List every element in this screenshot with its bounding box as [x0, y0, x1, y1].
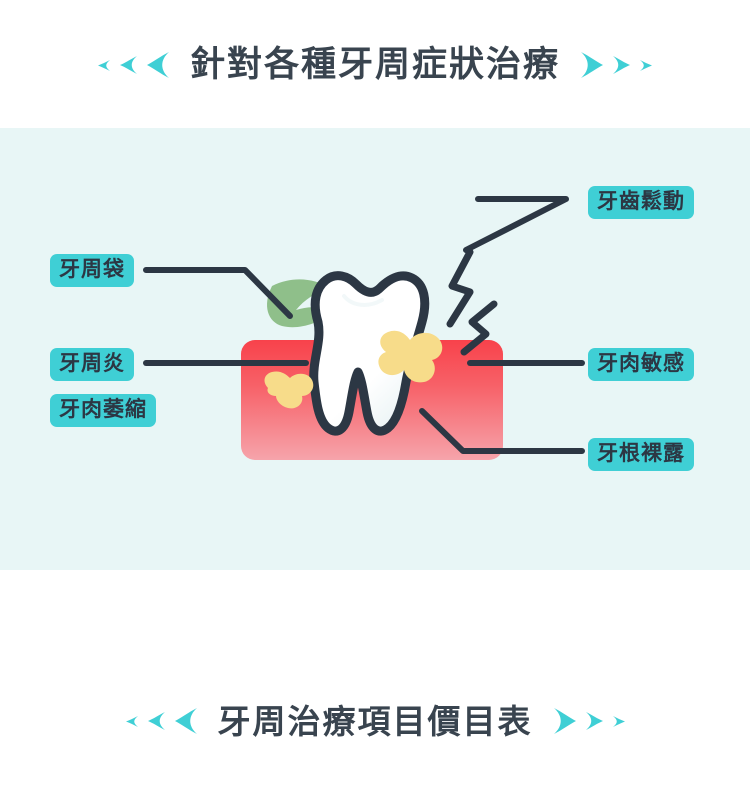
footer-title: 牙周治療項目價目表 [218, 705, 533, 738]
label-tooth-mobility[interactable]: 牙齒鬆動 [588, 186, 694, 219]
page-title: 針對各種牙周症狀治療 [190, 48, 560, 83]
triangles-left-icon [125, 706, 200, 736]
triangles-right-icon [578, 50, 653, 80]
label-perio-pocket[interactable]: 牙周袋 [50, 254, 134, 287]
label-gum-sensitive[interactable]: 牙肉敏感 [588, 348, 694, 381]
label-periodontitis[interactable]: 牙周炎 [50, 348, 134, 381]
triangles-left-icon [97, 50, 172, 80]
label-root-exposure[interactable]: 牙根裸露 [588, 438, 694, 471]
label-gum-recession[interactable]: 牙肉萎縮 [50, 394, 156, 427]
triangles-right-icon [551, 706, 626, 736]
page-header: 針對各種牙周症狀治療 [0, 34, 750, 96]
page-footer: 牙周治療項目價目表 [0, 690, 750, 752]
